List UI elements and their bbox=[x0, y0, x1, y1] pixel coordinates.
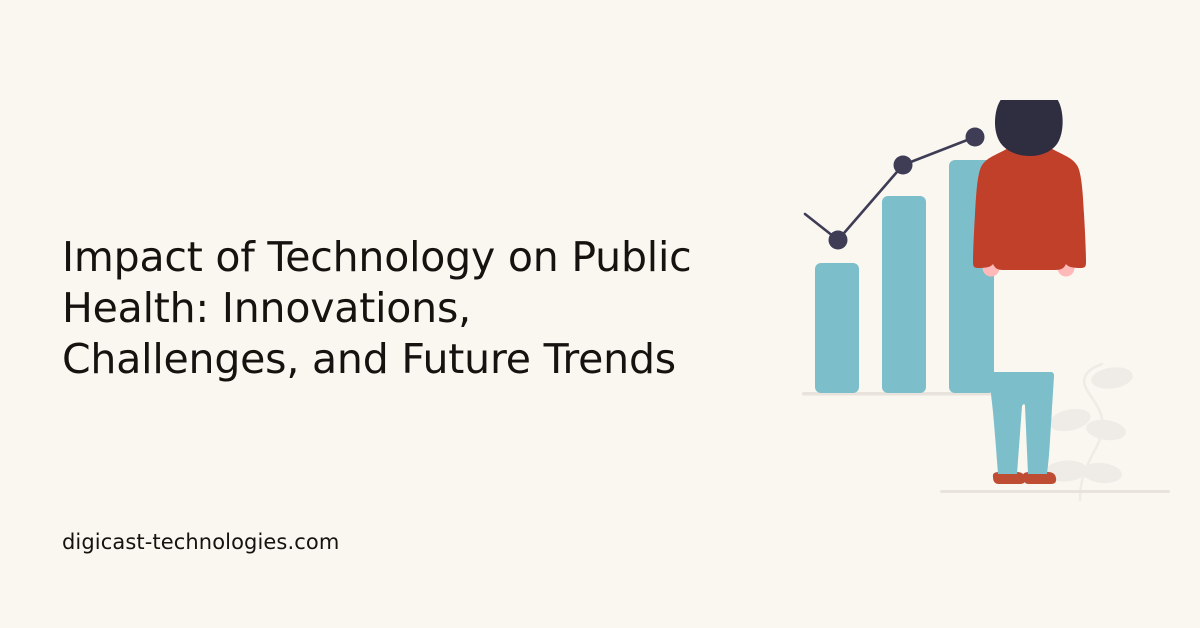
illustration-growth-chart bbox=[780, 100, 1190, 520]
trend-marker-2 bbox=[894, 156, 913, 175]
trend-marker-1 bbox=[829, 231, 848, 250]
ground-line bbox=[940, 490, 1170, 493]
share-card: Impact of Technology on Public Health: I… bbox=[0, 0, 1200, 628]
pants bbox=[989, 372, 1054, 474]
plant-decoration bbox=[1044, 364, 1134, 500]
site-url: digicast-technologies.com bbox=[62, 528, 339, 556]
jacket bbox=[973, 143, 1086, 270]
page-title: Impact of Technology on Public Health: I… bbox=[62, 232, 712, 385]
hair bbox=[995, 100, 1063, 156]
trend-marker-3 bbox=[966, 128, 985, 147]
bar-group bbox=[815, 160, 994, 393]
bar-1 bbox=[815, 263, 859, 393]
text-column: Impact of Technology on Public Health: I… bbox=[62, 0, 722, 628]
bar-2 bbox=[882, 196, 926, 393]
